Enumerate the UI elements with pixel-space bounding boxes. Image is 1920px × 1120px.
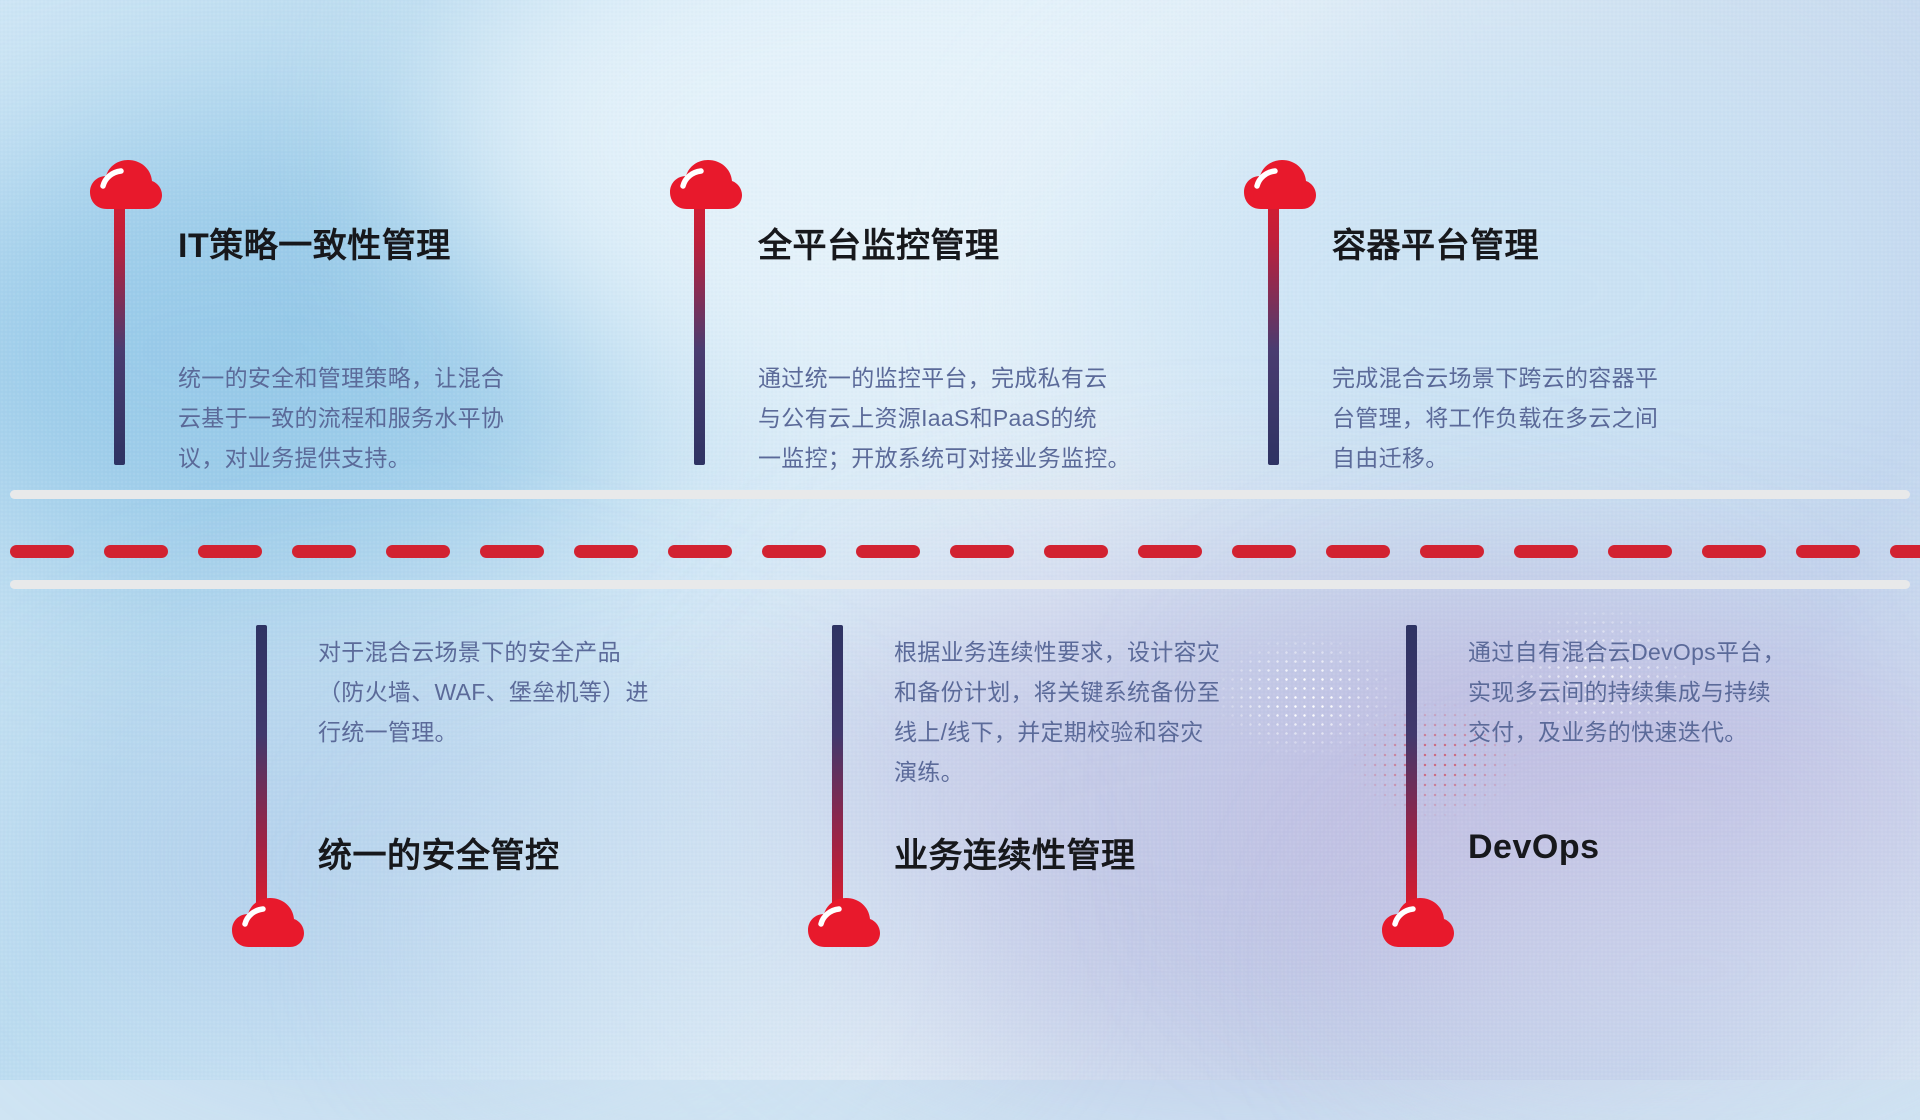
- divider-dash: [1044, 545, 1108, 558]
- divider-dash: [10, 545, 74, 558]
- connector-line: [1268, 175, 1279, 465]
- divider-dash: [668, 545, 732, 558]
- divider-dash: [1702, 545, 1766, 558]
- divider-band-bottom: [10, 580, 1910, 589]
- divider-dash: [104, 545, 168, 558]
- divider-dash: [574, 545, 638, 558]
- top-column-2-title: 全平台监控管理: [758, 218, 1000, 267]
- bottom-column-2-title: 业务连续性管理: [894, 828, 1136, 877]
- divider-band-top: [10, 490, 1910, 499]
- divider-dash: [762, 545, 826, 558]
- top-column-2-body: 通过统一的监控平台，完成私有云 与公有云上资源IaaS和PaaS的统 一监控；开…: [758, 358, 1218, 478]
- top-column-3-body: 完成混合云场景下跨云的容器平 台管理，将工作负载在多云之间 自由迁移。: [1332, 358, 1772, 478]
- connector-line: [256, 625, 267, 915]
- divider-dash: [1608, 545, 1672, 558]
- connector-line: [114, 175, 125, 465]
- connector-line: [694, 175, 705, 465]
- divider-dash: [1514, 545, 1578, 558]
- cloud-icon: [1244, 160, 1316, 212]
- bottom-column-1-title: 统一的安全管控: [318, 828, 560, 877]
- divider-dash: [1326, 545, 1390, 558]
- divider-dash: [480, 545, 544, 558]
- bottom-column-1-body: 对于混合云场景下的安全产品 （防火墙、WAF、堡垒机等）进 行统一管理。: [318, 632, 748, 752]
- cloud-icon: [1382, 898, 1454, 950]
- bottom-column-3-title: DevOps: [1468, 828, 1600, 867]
- cloud-icon: [808, 898, 880, 950]
- divider-dash: [292, 545, 356, 558]
- bottom-column-2-body: 根据业务连续性要求，设计容灾 和备份计划，将关键系统备份至 线上/线下，并定期校…: [894, 632, 1324, 792]
- divider-dash: [1420, 545, 1484, 558]
- divider-dash: [198, 545, 262, 558]
- divider-dash: [386, 545, 450, 558]
- bottom-column-3-body: 通过自有混合云DevOps平台， 实现多云间的持续集成与持续 交付，及业务的快速…: [1468, 632, 1898, 752]
- divider-dash: [856, 545, 920, 558]
- top-column-3-title: 容器平台管理: [1332, 218, 1539, 267]
- divider-dash: [1890, 545, 1920, 558]
- top-column-1-body: 统一的安全和管理策略，让混合 云基于一致的流程和服务水平协 议，对业务提供支持。: [178, 358, 608, 478]
- divider-dash: [1796, 545, 1860, 558]
- infographic: IT策略一致性管理 统一的安全和管理策略，让混合 云基于一致的流程和服务水平协 …: [0, 0, 1920, 1080]
- cloud-icon: [90, 160, 162, 212]
- divider-dash: [1138, 545, 1202, 558]
- top-column-1-title: IT策略一致性管理: [178, 218, 451, 267]
- divider-dash: [1232, 545, 1296, 558]
- divider-dash: [950, 545, 1014, 558]
- cloud-icon: [232, 898, 304, 950]
- connector-line: [1406, 625, 1417, 915]
- divider-dashed-line: [0, 545, 1920, 558]
- connector-line: [832, 625, 843, 915]
- cloud-icon: [670, 160, 742, 212]
